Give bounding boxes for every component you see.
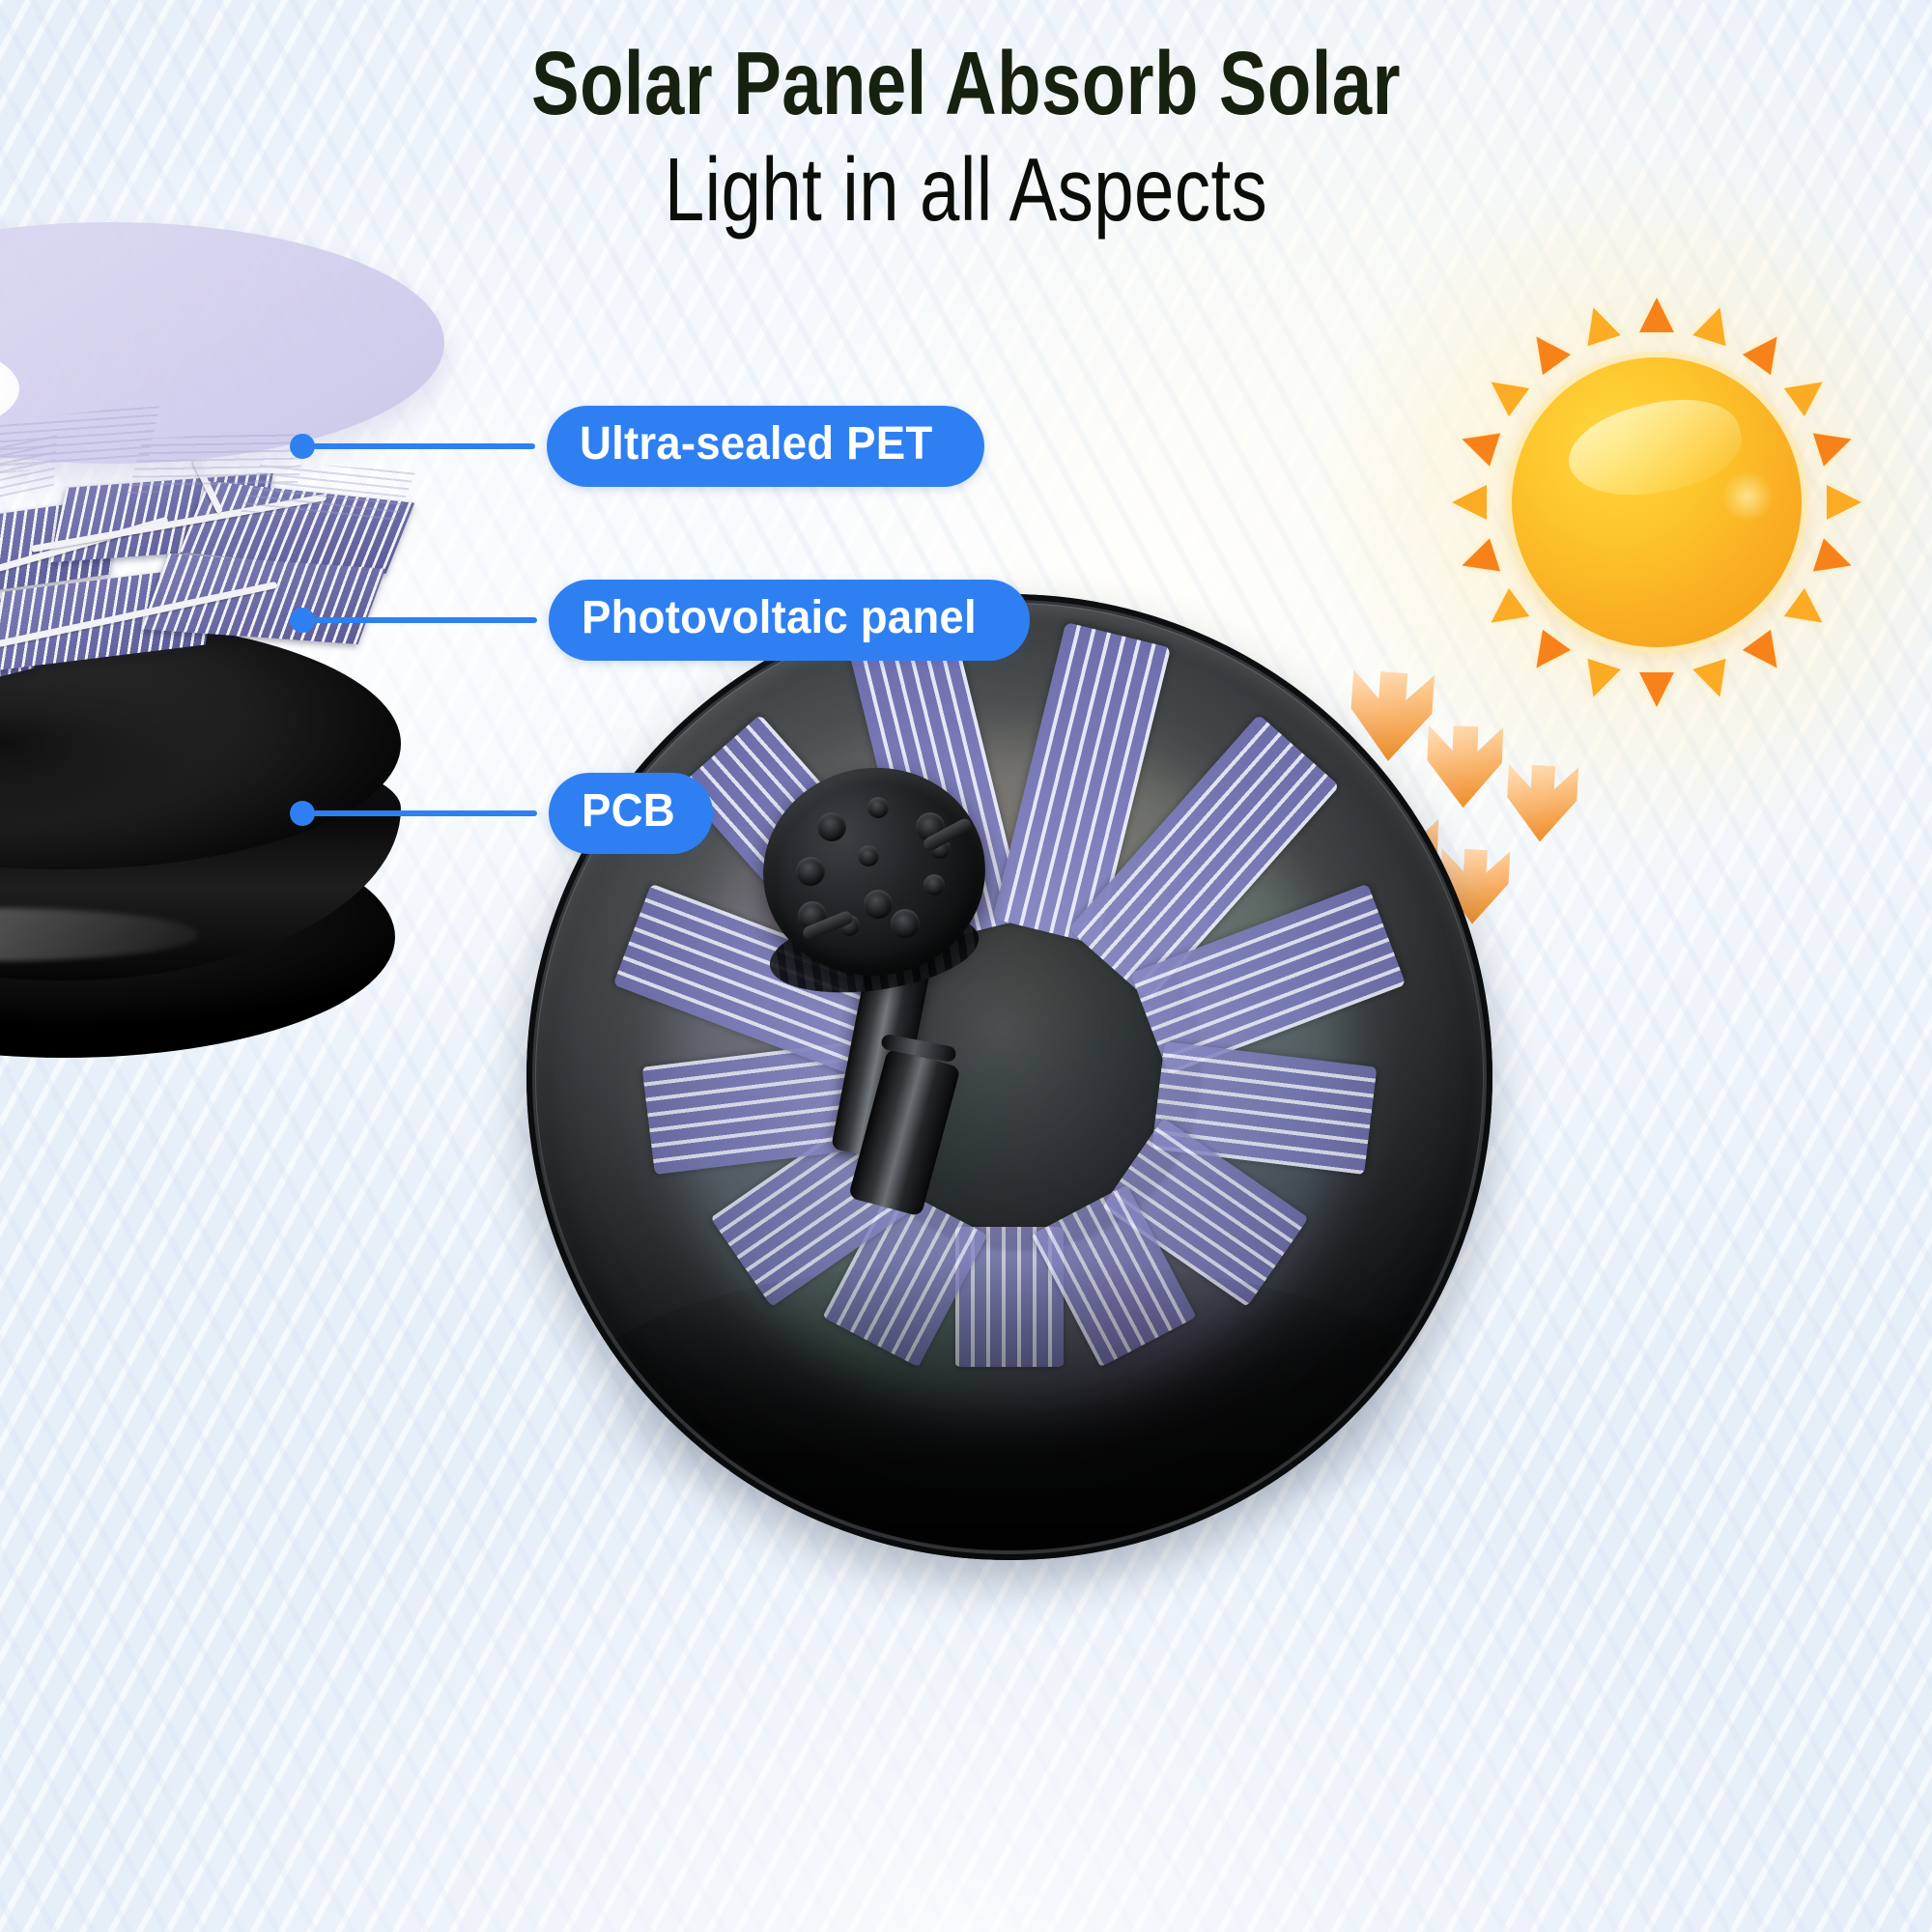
nozzle-spray-hole <box>867 797 889 818</box>
infographic-canvas: Solar Panel Absorb Solar Light in all As… <box>0 0 1932 1932</box>
callout-pill-label[interactable]: Ultra-sealed PET <box>547 406 984 487</box>
callout-dot-icon <box>290 801 315 826</box>
callout-dot-icon <box>290 434 315 459</box>
fountain-nozzle <box>763 768 1053 1174</box>
nozzle-spray-hole <box>923 874 945 895</box>
nozzle-spray-hole <box>891 909 920 938</box>
callout-label-text: Photovoltaic panel <box>582 595 977 642</box>
callout-leader-line <box>313 810 537 816</box>
callout-dot-icon <box>290 608 315 633</box>
sun-ray <box>1452 485 1487 520</box>
title-line-2: Light in all Aspects <box>193 139 1739 240</box>
callout-leader-line <box>313 617 537 623</box>
sun-ray <box>1827 485 1861 520</box>
page-title: Solar Panel Absorb Solar Light in all As… <box>0 33 1932 240</box>
callout-ultra-sealed-pet[interactable]: Ultra-sealed PET <box>290 406 984 487</box>
title-line-1: Solar Panel Absorb Solar <box>193 33 1739 133</box>
callout-label-text: Ultra-sealed PET <box>580 421 932 469</box>
nozzle-spray-hole <box>796 857 825 886</box>
callout-pill-label[interactable]: Photovoltaic panel <box>549 580 1030 661</box>
callout-leader-line <box>313 443 535 449</box>
callout-pcb[interactable]: PCB <box>290 773 713 854</box>
callout-pill-label[interactable]: PCB <box>549 773 713 854</box>
nozzle-spray-hole <box>858 845 879 867</box>
nozzle-spray-hole <box>864 890 893 919</box>
nozzle-spray-hole <box>817 812 846 841</box>
sun-highlight-small <box>1722 471 1773 522</box>
callout-label-text: PCB <box>582 788 675 836</box>
callout-photovoltaic-panel[interactable]: Photovoltaic panel <box>290 580 1030 661</box>
sun-ray <box>1639 298 1674 332</box>
sun-ray <box>1639 672 1674 707</box>
